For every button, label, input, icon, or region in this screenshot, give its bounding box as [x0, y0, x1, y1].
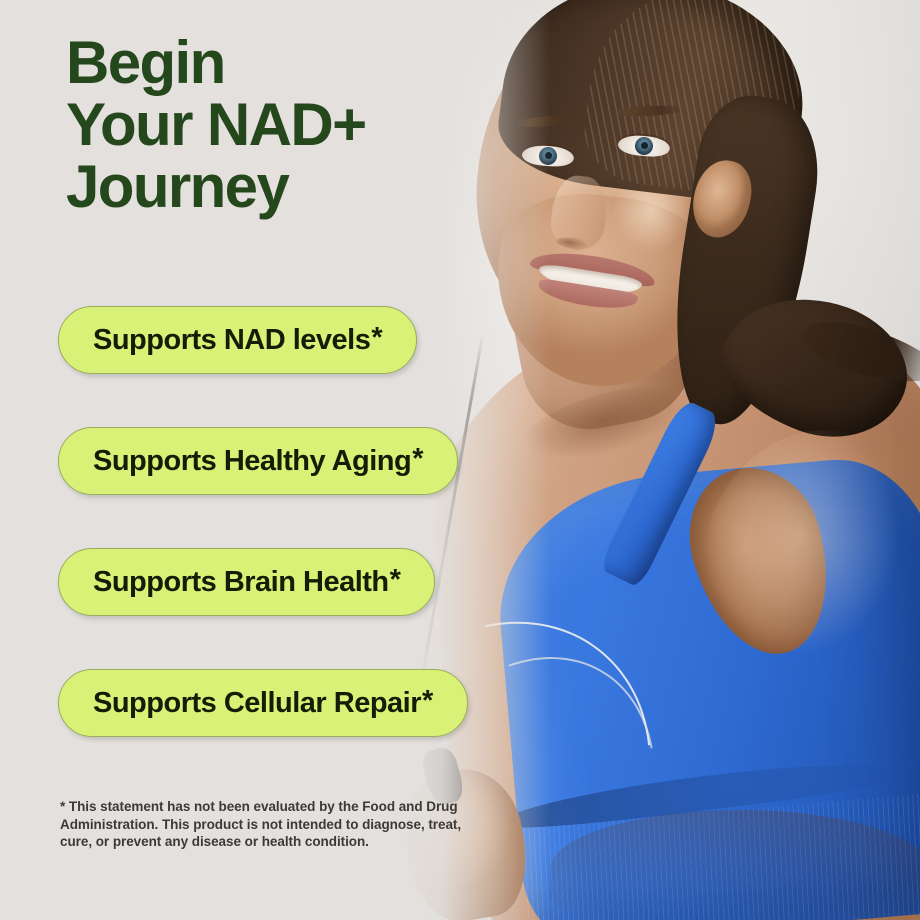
asterisk-marker: *: [371, 324, 382, 353]
benefit-list: Supports NAD levels* Supports Healthy Ag…: [58, 306, 600, 737]
fda-disclaimer: * This statement has not been evaluated …: [60, 798, 480, 851]
benefit-pill-brain-health[interactable]: Supports Brain Health*: [58, 548, 435, 616]
benefit-label: Supports Cellular Repair: [93, 687, 421, 720]
asterisk-marker: *: [412, 445, 423, 474]
page-title: Begin Your NAD+ Journey: [66, 32, 366, 218]
benefit-pill-nad-levels[interactable]: Supports NAD levels*: [58, 306, 417, 374]
content-column: Begin Your NAD+ Journey Supports NAD lev…: [0, 0, 600, 920]
benefit-label: Supports Brain Health: [93, 566, 389, 599]
benefit-label: Supports NAD levels: [93, 324, 370, 357]
benefit-pill-cellular-repair[interactable]: Supports Cellular Repair*: [58, 669, 468, 737]
benefit-label: Supports Healthy Aging: [93, 445, 411, 478]
benefit-pill-healthy-aging[interactable]: Supports Healthy Aging*: [58, 427, 458, 495]
iris-right: [634, 136, 654, 156]
asterisk-marker: *: [422, 687, 433, 716]
asterisk-marker: *: [390, 566, 401, 595]
ad-canvas: Begin Your NAD+ Journey Supports NAD lev…: [0, 0, 920, 920]
